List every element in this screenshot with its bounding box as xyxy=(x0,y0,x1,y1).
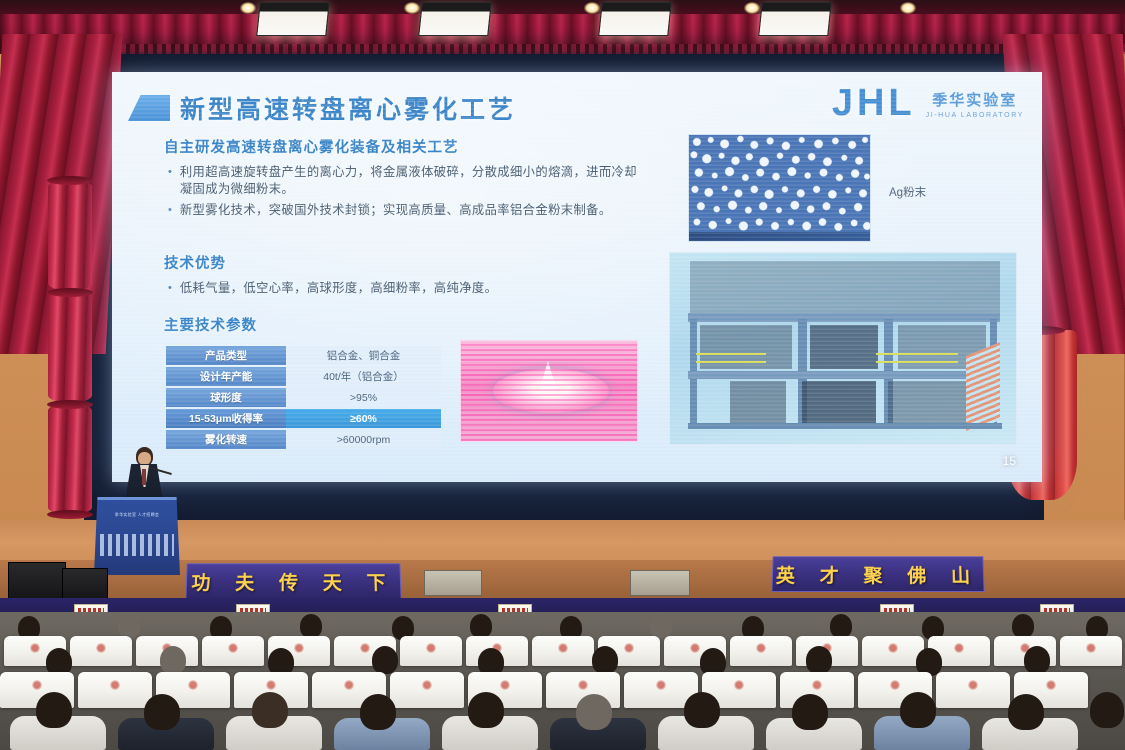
audience-person xyxy=(592,646,618,674)
audience-chair xyxy=(400,636,462,666)
audience-person xyxy=(360,694,396,730)
audience-chair xyxy=(390,672,464,708)
table-row: 雾化转速 >60000rpm xyxy=(166,430,441,449)
curtain-tie-left xyxy=(47,400,93,409)
bullet-text: 新型雾化技术，突破国外技术封锁；实现高质量、高成品率铝合金粉末制备。 xyxy=(180,202,612,219)
audience-person xyxy=(830,614,852,638)
table-cell-key: 球形度 xyxy=(166,388,286,407)
slide-title-row: 新型高速转盘离心雾化工艺 xyxy=(128,90,516,126)
audience-chair xyxy=(1060,636,1122,666)
slide-subheading: 自主研发高速转盘离心雾化装备及相关工艺 xyxy=(164,136,459,157)
table-cell-key: 15-53μm收得率 xyxy=(166,409,286,428)
lectern-label-line2-block xyxy=(100,534,174,556)
audience-person xyxy=(118,614,140,638)
table-cell-value: 40t/年（铝合金） xyxy=(286,367,441,386)
audience-person xyxy=(160,646,186,674)
atomization-plant-image xyxy=(669,252,1017,445)
audience-person xyxy=(1090,692,1124,728)
jhl-logo: JHL 季华实验室 JI-HUA LABORATORY xyxy=(832,84,1024,122)
banner-right: 英 才 聚 佛 山 xyxy=(771,556,984,592)
table-row-highlighted: 15-53μm收得率 ≥60% xyxy=(166,409,441,428)
table-cell-value: ≥60% xyxy=(286,409,441,428)
stage-monitor xyxy=(630,570,690,596)
stage-light xyxy=(256,2,330,36)
spotlight-glow xyxy=(404,2,420,14)
audience-person xyxy=(576,694,612,730)
list-item: • 利用超高速旋转盘产生的离心力，将金属液体破碎，分散成细小的熔滴，进而冷却凝固… xyxy=(168,164,648,198)
curtain-rail xyxy=(0,0,1125,14)
audience-person xyxy=(900,692,936,728)
audience-person xyxy=(36,692,72,728)
curtain-sash-left xyxy=(48,404,92,514)
slide-page-number: 15 xyxy=(1003,454,1016,468)
section-heading-advantages: 技术优势 xyxy=(164,252,226,273)
spinning-disk-image xyxy=(460,340,638,442)
stage-light xyxy=(598,2,672,36)
logo-name-en: JI-HUA LABORATORY xyxy=(926,112,1024,119)
advantage-bullet-list: • 低耗气量，低空心率，高球形度，高细粉率，高纯净度。 xyxy=(168,280,638,301)
moire-overlay xyxy=(461,341,637,441)
intro-bullet-list: • 利用超高速旋转盘产生的离心力，将金属液体破碎，分散成细小的熔滴，进而冷却凝固… xyxy=(168,164,648,223)
table-row: 产品类型 铝合金、铜合金 xyxy=(166,346,441,365)
sem-scale-bar xyxy=(689,232,870,241)
audience-area xyxy=(0,612,1125,750)
list-item: • 低耗气量，低空心率，高球形度，高细粉率，高纯净度。 xyxy=(168,280,638,297)
audience-chair xyxy=(202,636,264,666)
audience-chair xyxy=(532,636,594,666)
curtain-tie-left xyxy=(47,510,93,519)
curtain-sash-left xyxy=(48,292,92,402)
curtain-fringe xyxy=(0,44,1125,54)
audience-person xyxy=(252,692,288,728)
section-heading-parameters: 主要技术参数 xyxy=(164,314,257,335)
table-cell-value: >60000rpm xyxy=(286,430,441,449)
parameter-table: 产品类型 铝合金、铜合金 设计年产能 40t/年（铝合金） 球形度 >95% 1… xyxy=(166,344,441,451)
audience-chair xyxy=(936,672,1010,708)
audience-person xyxy=(684,692,720,728)
title-wedge-icon xyxy=(128,95,170,121)
sem-particles-graphic xyxy=(689,135,870,242)
lectern-label-line1: 季华实验室 人才招聘会 xyxy=(100,512,174,518)
audience-person xyxy=(468,692,504,728)
bullet-text: 利用超高速旋转盘产生的离心力，将金属液体破碎，分散成细小的熔滴，进而冷却凝固成为… xyxy=(180,164,648,198)
curtain-tie-left xyxy=(47,176,93,185)
stage-light xyxy=(418,2,492,36)
audience-chair xyxy=(862,636,924,666)
audience-person xyxy=(650,614,672,638)
table-row: 球形度 >95% xyxy=(166,388,441,407)
logo-mark: JHL xyxy=(832,84,916,122)
projection-screen: 新型高速转盘离心雾化工艺 JHL 季华实验室 JI-HUA LABORATORY… xyxy=(112,72,1042,482)
audience-person xyxy=(1024,646,1050,674)
audience-person xyxy=(806,646,832,674)
stage-monitor xyxy=(424,570,482,596)
table-cell-key: 雾化转速 xyxy=(166,430,286,449)
table-cell-key: 设计年产能 xyxy=(166,367,286,386)
audience-person xyxy=(470,614,492,638)
logo-name-cn: 季华实验室 xyxy=(926,89,1024,110)
audience-chair xyxy=(78,672,152,708)
table-cell-value: >95% xyxy=(286,388,441,407)
stage-light xyxy=(758,2,832,36)
sem-image-caption: Ag粉末 xyxy=(889,184,926,200)
banner-right-text: 英 才 聚 佛 山 xyxy=(776,561,981,588)
table-row: 设计年产能 40t/年（铝合金） xyxy=(166,367,441,386)
bullet-dot-icon: • xyxy=(168,202,172,219)
audience-chair xyxy=(70,636,132,666)
table-cell-value: 铝合金、铜合金 xyxy=(286,346,441,365)
list-item: • 新型雾化技术，突破国外技术封锁；实现高质量、高成品率铝合金粉末制备。 xyxy=(168,202,648,219)
spotlight-glow xyxy=(240,2,256,14)
curtain-tie-left xyxy=(47,288,93,297)
audience-person xyxy=(792,694,828,730)
bullet-dot-icon: • xyxy=(168,164,172,198)
audience-person xyxy=(1008,694,1044,730)
banner-left: 功 夫 传 天 下 xyxy=(185,563,401,599)
spotlight-glow xyxy=(744,2,760,14)
spotlight-glow xyxy=(584,2,600,14)
audience-person xyxy=(372,646,398,674)
audience-chair xyxy=(730,636,792,666)
table-cell-key: 产品类型 xyxy=(166,346,286,365)
audience-person xyxy=(1012,614,1034,638)
page-title: 新型高速转盘离心雾化工艺 xyxy=(180,90,516,126)
banner-left-text: 功 夫 传 天 下 xyxy=(191,568,396,595)
sem-micrograph-image xyxy=(688,134,871,242)
auditorium-scene: 新型高速转盘离心雾化工艺 JHL 季华实验室 JI-HUA LABORATORY… xyxy=(0,0,1125,750)
audience-person xyxy=(144,694,180,730)
bullet-dot-icon: • xyxy=(168,280,172,297)
spotlight-glow xyxy=(900,2,916,14)
curtain-sash-left xyxy=(48,180,92,290)
presenter-tie xyxy=(142,469,146,485)
presenter-face xyxy=(138,452,151,465)
lectern: 季华实验室 人才招聘会 xyxy=(94,497,180,575)
logo-name-block: 季华实验室 JI-HUA LABORATORY xyxy=(926,89,1024,122)
audience-person xyxy=(300,614,322,638)
bullet-text: 低耗气量，低空心率，高球形度，高细粉率，高纯净度。 xyxy=(180,280,497,297)
